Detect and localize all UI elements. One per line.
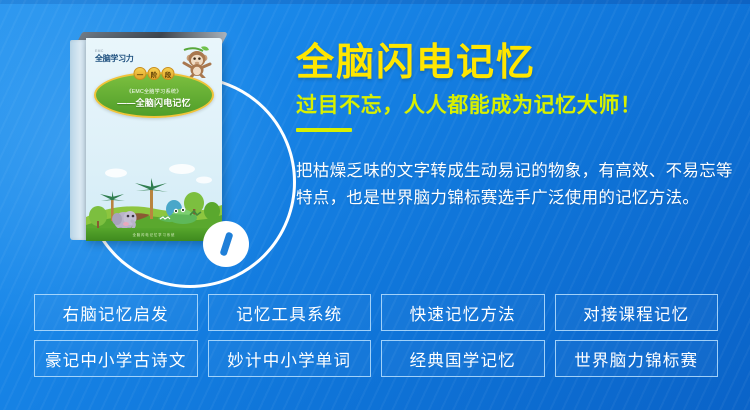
box-spine: [70, 40, 87, 240]
text-content: 全脑闪电记忆 过目不忘，人人都能成为记忆大师！ 把枯燥乏味的文字转成生动易记的物…: [296, 44, 740, 211]
feature-tag[interactable]: 妙计中小学单词: [208, 340, 372, 377]
cover-system-name: 《EMC全脑学习系统》: [126, 88, 181, 95]
title-underline: [296, 128, 352, 132]
cover-main-title: ——全脑闪电记忆: [117, 96, 191, 109]
description-text: 把枯燥乏味的文字转成生动易记的物象，有高效、不易忘等特点，也是世界脑力锦标赛选手…: [296, 158, 740, 211]
feature-tag-grid: 右脑记忆启发 记忆工具系统 快速记忆方法 对接课程记忆 豪记中小学古诗文 妙计中…: [34, 294, 718, 377]
badge-number-mark: [219, 232, 233, 257]
cover-title-plaque: 一 阶 段 《EMC全脑学习系统》 ——全脑闪电记忆: [94, 72, 214, 118]
feature-tag[interactable]: 右脑记忆启发: [34, 294, 198, 331]
page-subtitle: 过目不忘，人人都能成为记忆大师！: [296, 95, 740, 116]
box-front-cover: EMC 全脑学习力: [86, 38, 222, 241]
product-visual: EMC 全脑学习力: [44, 18, 294, 286]
brand-logo: EMC 全脑学习力: [95, 47, 153, 65]
top-edge-strip: [0, 0, 750, 4]
stage-badge-char-1: 一: [134, 67, 147, 80]
stage-badge: 一 阶 段: [134, 67, 175, 80]
product-box: EMC 全脑学习力: [70, 32, 222, 242]
feature-tag[interactable]: 豪记中小学古诗文: [34, 340, 198, 377]
feature-tag[interactable]: 记忆工具系统: [208, 294, 372, 331]
feature-tag[interactable]: 世界脑力锦标赛: [555, 340, 719, 377]
feature-tag[interactable]: 经典国学记忆: [381, 340, 545, 377]
stage-badge-char-3: 段: [162, 67, 175, 80]
feature-tag[interactable]: 快速记忆方法: [381, 294, 545, 331]
brand-logo-name: 全脑学习力: [95, 54, 153, 63]
promo-banner: EMC 全脑学习力: [0, 0, 750, 410]
feature-tag-row-1: 右脑记忆启发 记忆工具系统 快速记忆方法 对接课程记忆: [34, 294, 718, 331]
cover-footer-text: 全脑闪电记忆学习系统: [133, 232, 176, 237]
feature-tag[interactable]: 对接课程记忆: [555, 294, 719, 331]
stage-badge-char-2: 阶: [148, 67, 161, 80]
page-title: 全脑闪电记忆: [296, 44, 740, 82]
cover-footer-strip: 全脑闪电记忆学习系统: [86, 228, 222, 241]
feature-tag-row-2: 豪记中小学古诗文 妙计中小学单词 经典国学记忆 世界脑力锦标赛: [34, 340, 718, 377]
monkey-icon: [178, 44, 216, 78]
circle-number-badge: [203, 221, 249, 267]
